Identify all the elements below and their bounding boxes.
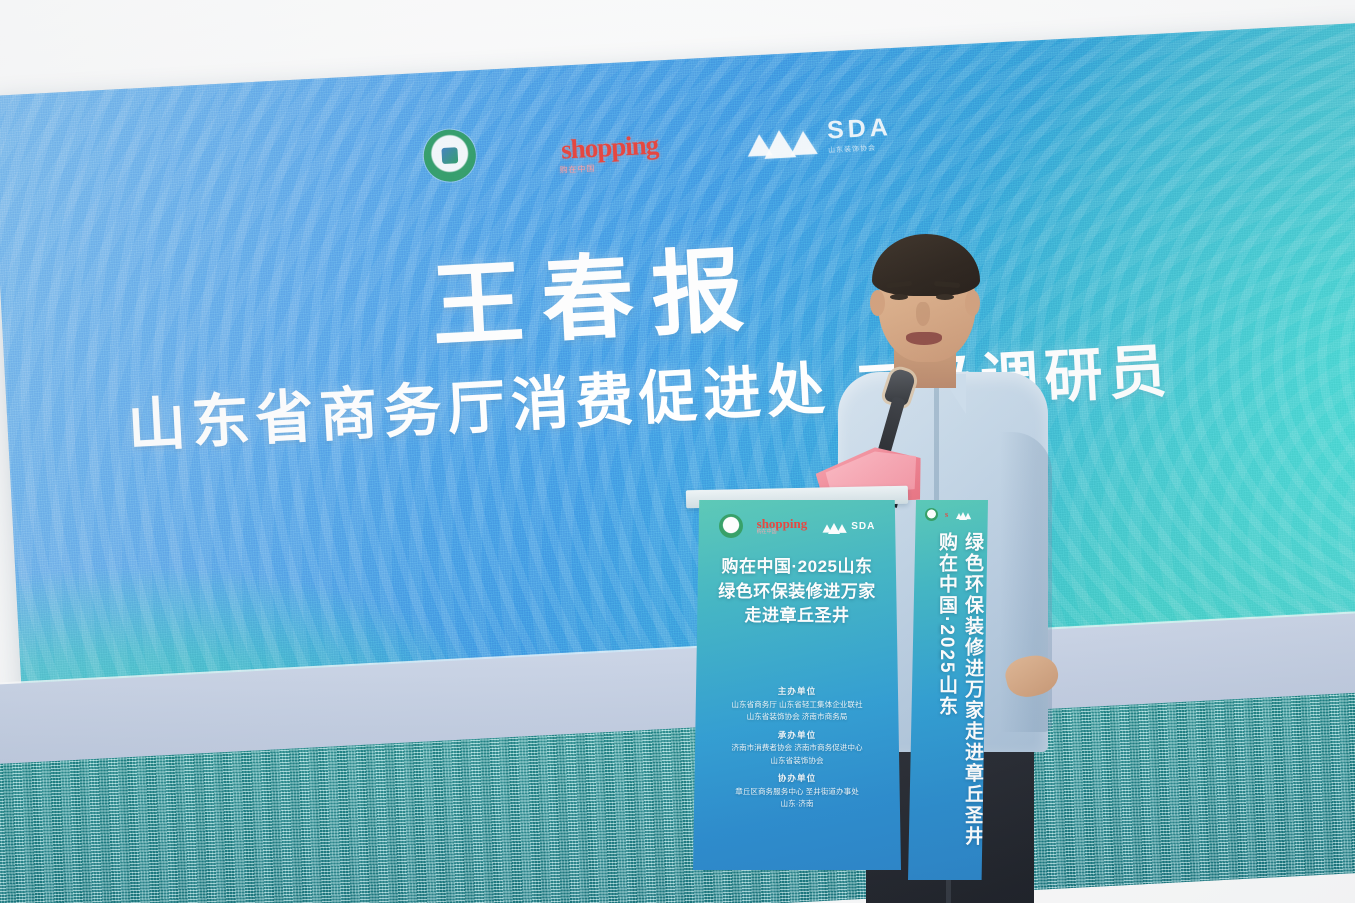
house-icon [821, 519, 847, 534]
speaker-eye [890, 294, 908, 300]
speaker-ear [870, 290, 885, 316]
green-circle-emblem-icon [925, 508, 938, 521]
credit-header: 协办单位 [699, 772, 895, 786]
credit-line: 章丘区商务服务中心 圣井街道办事处 [699, 786, 895, 798]
house-icon [955, 510, 971, 520]
speaker-mouth [906, 332, 942, 345]
banner-text-column-right: 绿色环保装修进万家走进章丘圣井 [963, 532, 982, 852]
shopping-logo-icon: shopping 购在中国 [757, 517, 808, 535]
green-circle-emblem-icon [422, 128, 477, 183]
sda-logo-sub: 山东装饰协会 [828, 142, 893, 155]
sda-logo-label: SDA 山东装饰协会 [826, 113, 893, 155]
credit-line: 山东·济南 [699, 798, 895, 810]
credit-header: 承办单位 [699, 729, 895, 743]
speaker-nose [916, 302, 930, 326]
shopping-logo-label: shopping [560, 129, 659, 165]
podium-logo-strip: shopping 购在中国 SDA [693, 514, 901, 538]
sda-logo-icon: SDA [821, 519, 875, 534]
podium-event-title: 购在中国·2025山东 绿色环保装修进万家 走进章丘圣井 [693, 555, 901, 629]
sda-logo-label: SDA [851, 521, 875, 532]
shopping-logo-sub: 购在中国 [559, 163, 596, 176]
credit-header: 主办单位 [699, 685, 895, 699]
event-photo-scene: shopping 购在中国 SDA 山东装饰协会 王春报 山东省商务厅消费促进处… [0, 0, 1355, 903]
sda-logo-icon: SDA 山东装饰协会 [742, 112, 893, 160]
podium-front-panel: shopping 购在中国 SDA 购在中国·2025山东 绿色环保装修进万家 … [693, 500, 901, 870]
house-icon [742, 116, 818, 160]
shopping-logo-icon: s [945, 510, 948, 519]
credit-line: 山东省装饰协会 [699, 755, 895, 767]
credit-line: 山东省装饰协会 济南市商务局 [699, 711, 895, 723]
speaker-eye [936, 294, 954, 300]
speaker-ear [965, 290, 980, 316]
banner-text-column-left: 购在中国·2025山东 [937, 532, 956, 862]
podium-title-line: 走进章丘圣井 [693, 604, 901, 629]
credit-line: 山东省商务厅 山东省轻工集体企业联社 [699, 699, 895, 711]
shopping-logo-label: shopping [757, 516, 808, 531]
speaker-name-title: 王春报 [428, 215, 765, 365]
shopping-logo-icon: shopping 购在中国 [529, 122, 691, 172]
podium-title-line: 购在中国·2025山东 [693, 555, 901, 580]
credit-line: 济南市消费者协会 济南市商务促进中心 [699, 742, 895, 754]
green-circle-emblem-icon [719, 514, 743, 538]
podium-organizer-credits: 主办单位 山东省商务厅 山东省轻工集体企业联社 山东省装饰协会 济南市商务局 承… [699, 685, 895, 811]
banner-logo-strip: s [908, 508, 988, 521]
vertical-banner: s 绿色环保装修进万家走进章丘圣井 购在中国·2025山东 [908, 500, 988, 880]
podium-title-line: 绿色环保装修进万家 [693, 580, 901, 605]
